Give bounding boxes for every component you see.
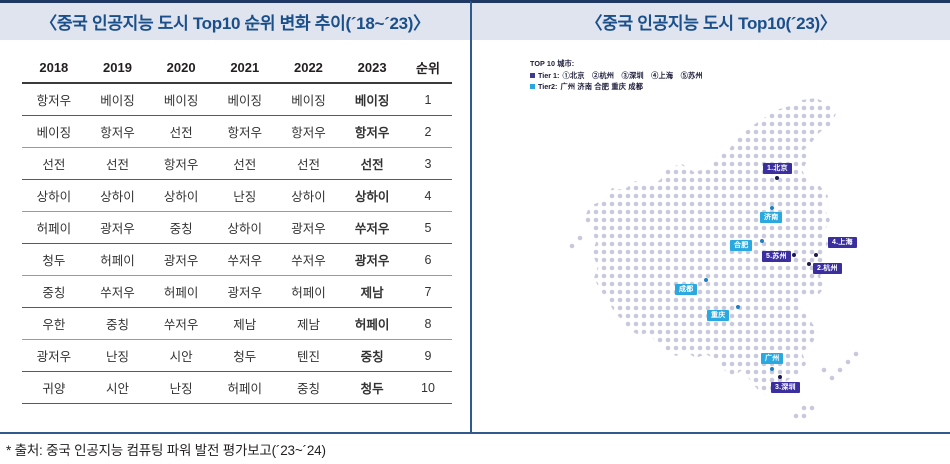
cell-2023: 선전 — [340, 148, 404, 180]
cell-2022: 텐진 — [277, 340, 341, 372]
china-dotted-map — [472, 40, 950, 432]
cell-2018: 선전 — [22, 148, 86, 180]
table-row: 상하이 상하이 상하이 난징 상하이 상하이 4 — [22, 180, 452, 212]
legend-row-tier2: Tier2: 广州 济南 合肥 重庆 成都 — [530, 81, 703, 92]
map-label-beijing[interactable]: 1.北京 — [763, 163, 792, 174]
cell-2020: 항저우 — [149, 148, 213, 180]
cell-2021: 상하이 — [213, 212, 277, 244]
source-note: * 출처: 중국 인공지능 컴퓨팅 파워 발전 평가보고(´23~´24) — [6, 439, 326, 459]
cell-2020: 선전 — [149, 116, 213, 148]
left-panel-header: 〈중국 인공지능 도시 Top10 순위 변화 추이(´18~´23)〉 — [0, 0, 470, 40]
table-row: 광저우 난징 시안 청두 텐진 중칭 9 — [22, 340, 452, 372]
map-dot-suzhou — [792, 253, 796, 257]
cell-2022: 베이징 — [277, 83, 341, 116]
right-panel-title: 〈중국 인공지능 도시 Top10(´23)〉 — [585, 9, 836, 34]
cell-2018: 항저우 — [22, 83, 86, 116]
cell-rank: 10 — [404, 372, 452, 404]
cell-2020: 중칭 — [149, 212, 213, 244]
table-header-row: 2018 2019 2020 2021 2022 2023 순위 — [22, 52, 452, 83]
cell-2020: 난징 — [149, 372, 213, 404]
tier1-cities: ①北京 ②杭州 ③深圳 ④上海 ⑤苏州 — [562, 70, 702, 81]
map-dot-guangzhou — [770, 367, 774, 371]
cell-2022: 쑤저우 — [277, 244, 341, 276]
map-label-hangzhou[interactable]: 2.杭州 — [813, 263, 842, 274]
cell-2018: 허페이 — [22, 212, 86, 244]
map-label-chongqing[interactable]: 重庆 — [707, 310, 729, 321]
cell-rank: 3 — [404, 148, 452, 180]
map-dot-shenzhen — [778, 375, 782, 379]
map-label-shanghai[interactable]: 4.上海 — [828, 237, 857, 248]
column-header-2023: 2023 — [340, 52, 404, 83]
cell-2020: 광저우 — [149, 244, 213, 276]
panels-body: 2018 2019 2020 2021 2022 2023 순위 항저우 베이징… — [0, 40, 950, 432]
cell-2021: 베이징 — [213, 83, 277, 116]
table-row: 우한 중칭 쑤저우 제남 제남 허페이 8 — [22, 308, 452, 340]
cell-2021: 난징 — [213, 180, 277, 212]
cell-rank: 4 — [404, 180, 452, 212]
cell-2021: 선전 — [213, 148, 277, 180]
cell-2019: 중칭 — [86, 308, 150, 340]
tier2-cities: 广州 济南 合肥 重庆 成都 — [560, 81, 643, 92]
map-label-shenzhen[interactable]: 3.深圳 — [771, 382, 800, 393]
cell-2021: 광저우 — [213, 276, 277, 308]
map-label-hefei[interactable]: 合肥 — [730, 240, 752, 251]
panel-headers: 〈중국 인공지능 도시 Top10 순위 변화 추이(´18~´23)〉 〈중국… — [0, 0, 950, 40]
cell-rank: 2 — [404, 116, 452, 148]
column-header-2019: 2019 — [86, 52, 150, 83]
legend-title: TOP 10 城市: — [530, 58, 703, 69]
cell-2023: 베이징 — [340, 83, 404, 116]
source-footer: * 출처: 중국 인공지능 컴퓨팅 파워 발전 평가보고(´23~´24) — [0, 432, 950, 464]
china-map-stage: TOP 10 城市: Tier 1: ①北京 ②杭州 ③深圳 ④上海 ⑤苏州 T… — [472, 40, 950, 432]
column-header-rank: 순위 — [404, 52, 452, 83]
cell-2022: 선전 — [277, 148, 341, 180]
cell-2018: 광저우 — [22, 340, 86, 372]
cell-2023: 광저우 — [340, 244, 404, 276]
cell-2019: 시안 — [86, 372, 150, 404]
cell-2022: 상하이 — [277, 180, 341, 212]
cell-2019: 난징 — [86, 340, 150, 372]
cell-2018: 청두 — [22, 244, 86, 276]
cell-2022: 항저우 — [277, 116, 341, 148]
map-dot-chengdu — [704, 278, 708, 282]
table-body: 항저우 베이징 베이징 베이징 베이징 베이징 1 베이징 항저우 선전 항저우… — [22, 83, 452, 404]
cell-2022: 광저우 — [277, 212, 341, 244]
cell-2021: 허페이 — [213, 372, 277, 404]
table-row: 허페이 광저우 중칭 상하이 광저우 쑤저우 5 — [22, 212, 452, 244]
table-row: 청두 허페이 광저우 쑤저우 쑤저우 광저우 6 — [22, 244, 452, 276]
cell-rank: 7 — [404, 276, 452, 308]
map-dot-beijing — [775, 176, 779, 180]
legend-row-tier1: Tier 1: ①北京 ②杭州 ③深圳 ④上海 ⑤苏州 — [530, 70, 703, 81]
map-label-chengdu[interactable]: 成都 — [675, 284, 697, 295]
cell-rank: 9 — [404, 340, 452, 372]
cell-2020: 쑤저우 — [149, 308, 213, 340]
rank-change-table: 2018 2019 2020 2021 2022 2023 순위 항저우 베이징… — [22, 52, 452, 404]
cell-2019: 선전 — [86, 148, 150, 180]
cell-2022: 허페이 — [277, 276, 341, 308]
column-header-2021: 2021 — [213, 52, 277, 83]
cell-2021: 항저우 — [213, 116, 277, 148]
tier1-label: Tier 1: — [538, 70, 559, 81]
cell-2018: 귀양 — [22, 372, 86, 404]
map-label-jinan[interactable]: 济南 — [760, 212, 782, 223]
cell-2023: 허페이 — [340, 308, 404, 340]
cell-rank: 5 — [404, 212, 452, 244]
cell-2021: 쑤저우 — [213, 244, 277, 276]
cell-2019: 항저우 — [86, 116, 150, 148]
cell-2023: 상하이 — [340, 180, 404, 212]
cell-2020: 상하이 — [149, 180, 213, 212]
cell-2018: 상하이 — [22, 180, 86, 212]
cell-2023: 중칭 — [340, 340, 404, 372]
cell-2018: 베이징 — [22, 116, 86, 148]
map-panel: TOP 10 城市: Tier 1: ①北京 ②杭州 ③深圳 ④上海 ⑤苏州 T… — [470, 40, 950, 432]
cell-2023: 청두 — [340, 372, 404, 404]
map-dot-shanghai — [814, 253, 818, 257]
cell-2019: 쑤저우 — [86, 276, 150, 308]
map-dot-hefei — [760, 239, 764, 243]
map-dot-jinan — [770, 206, 774, 210]
cell-2019: 허페이 — [86, 244, 150, 276]
cell-rank: 1 — [404, 83, 452, 116]
cell-2019: 베이징 — [86, 83, 150, 116]
map-label-guangzhou[interactable]: 广州 — [761, 353, 783, 364]
table-row: 중칭 쑤저우 허페이 광저우 허페이 제남 7 — [22, 276, 452, 308]
map-label-suzhou[interactable]: 5.苏州 — [762, 251, 791, 262]
table-row: 귀양 시안 난징 허페이 중칭 청두 10 — [22, 372, 452, 404]
cell-2018: 중칭 — [22, 276, 86, 308]
cell-2020: 허페이 — [149, 276, 213, 308]
cell-2021: 제남 — [213, 308, 277, 340]
cell-2023: 제남 — [340, 276, 404, 308]
table-row: 항저우 베이징 베이징 베이징 베이징 베이징 1 — [22, 83, 452, 116]
cell-2019: 상하이 — [86, 180, 150, 212]
cell-2022: 중칭 — [277, 372, 341, 404]
cell-2018: 우한 — [22, 308, 86, 340]
tier2-label: Tier2: — [538, 81, 557, 92]
map-dot-chongqing — [736, 305, 740, 309]
table-head: 2018 2019 2020 2021 2022 2023 순위 — [22, 52, 452, 83]
cell-2019: 광저우 — [86, 212, 150, 244]
cell-rank: 8 — [404, 308, 452, 340]
tier1-swatch-icon — [530, 73, 535, 78]
table-row: 선전 선전 항저우 선전 선전 선전 3 — [22, 148, 452, 180]
cell-2022: 제남 — [277, 308, 341, 340]
cell-2023: 항저우 — [340, 116, 404, 148]
table-row: 베이징 항저우 선전 항저우 항저우 항저우 2 — [22, 116, 452, 148]
map-legend: TOP 10 城市: Tier 1: ①北京 ②杭州 ③深圳 ④上海 ⑤苏州 T… — [530, 58, 703, 92]
column-header-2022: 2022 — [277, 52, 341, 83]
column-header-2018: 2018 — [22, 52, 86, 83]
cell-rank: 6 — [404, 244, 452, 276]
left-panel-title: 〈중국 인공지능 도시 Top10 순위 변화 추이(´18~´23)〉 — [40, 9, 430, 34]
tier2-swatch-icon — [530, 84, 535, 89]
cell-2020: 베이징 — [149, 83, 213, 116]
column-header-2020: 2020 — [149, 52, 213, 83]
cell-2023: 쑤저우 — [340, 212, 404, 244]
map-dot-hangzhou — [807, 262, 811, 266]
rank-table-panel: 2018 2019 2020 2021 2022 2023 순위 항저우 베이징… — [0, 40, 470, 432]
right-panel-header: 〈중국 인공지능 도시 Top10(´23)〉 — [470, 0, 950, 40]
cell-2021: 청두 — [213, 340, 277, 372]
cell-2020: 시안 — [149, 340, 213, 372]
